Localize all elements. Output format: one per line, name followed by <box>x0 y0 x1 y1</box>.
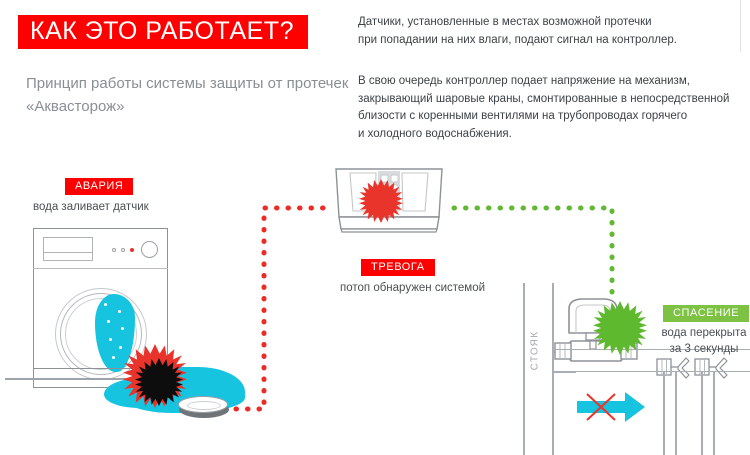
indicator-dot-1 <box>112 248 116 252</box>
indicator-dot-2 <box>121 248 125 252</box>
page-edge-rule <box>740 0 741 52</box>
riser-label: СТОЯК <box>530 321 541 381</box>
detergent-drawer-split <box>43 252 93 253</box>
infographic-canvas: КАК ЭТО РАБОТАЕТ? Принцип работы системы… <box>0 0 750 455</box>
drop-pipe-2b <box>713 371 715 455</box>
blocked-flow-arrow-icon <box>575 388 653 426</box>
rescue-caption: вода перекрыта за 3 секунды <box>658 325 750 357</box>
status-badge-тревога: ТРЕВОГА <box>361 259 435 276</box>
detergent-drawer-icon <box>43 237 93 261</box>
signal-path-red <box>230 200 340 415</box>
page-title: КАК ЭТО РАБОТАЕТ? <box>18 15 308 49</box>
page-subtitle: Принцип работы системы защиты от протече… <box>26 72 356 118</box>
drop-pipe-1a <box>663 371 665 455</box>
red-starburst-icon <box>358 178 404 224</box>
puck-inner-ring <box>187 401 221 410</box>
riser-pipe-left <box>523 283 525 455</box>
drop-pipe-2a <box>701 371 703 455</box>
green-starburst-icon <box>592 300 648 356</box>
status-badge-aвария: АВАРИЯ <box>65 178 133 195</box>
control-panel-divider <box>33 268 168 269</box>
puck-surface <box>178 396 228 413</box>
program-knob-icon <box>141 241 158 258</box>
status-badge-спасение: СПАСЕНИЕ <box>663 305 749 322</box>
indicator-dot-active <box>130 248 134 252</box>
description-paragraph-1: Датчики, установленные в местах возможно… <box>358 14 743 49</box>
drop-pipe-1b <box>675 371 677 455</box>
supply-line-bottom <box>552 371 750 372</box>
leak-caption: вода заливает датчик <box>33 199 213 215</box>
description-paragraph-2: В свою очередь контроллер подает напряже… <box>358 73 750 143</box>
sensor-puck-icon <box>178 396 230 418</box>
